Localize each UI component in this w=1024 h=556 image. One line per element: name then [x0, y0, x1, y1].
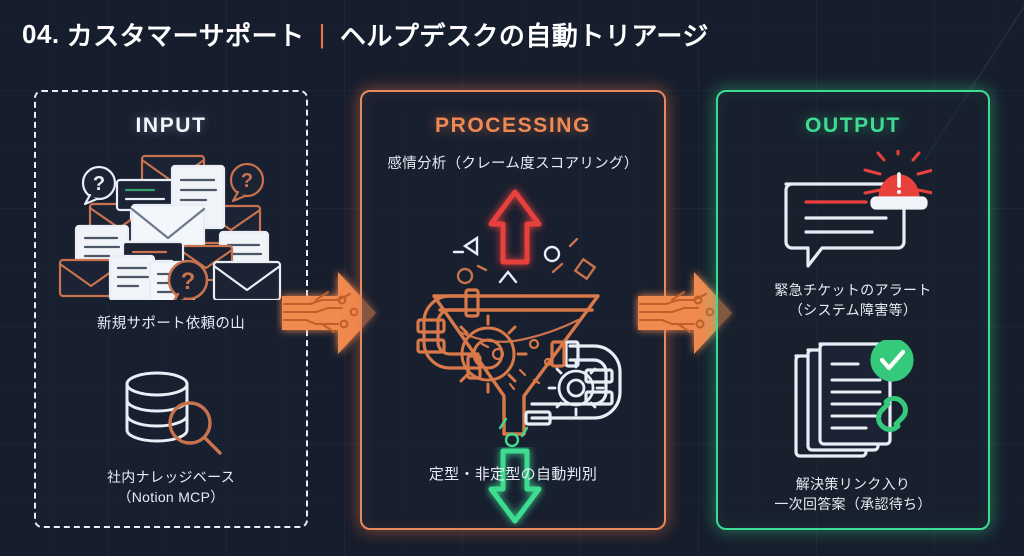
- title-number: 04.: [22, 19, 60, 50]
- svg-text:?: ?: [181, 268, 196, 295]
- input-item-0-caption-line-0: 新規サポート依頼の山: [36, 314, 306, 335]
- input-item-1-caption-line-0: 社内ナレッジベース: [36, 467, 306, 487]
- mail-pile-icon: ? ? ?: [54, 150, 292, 300]
- panel-input-heading: INPUT: [36, 114, 306, 138]
- gear-left: [450, 316, 526, 392]
- panel-output: OUTPUT: [716, 90, 990, 530]
- database-search-icon: [116, 367, 230, 459]
- output-item-0-caption-line-0: 緊急チケットのアラート: [718, 280, 988, 300]
- page-title: 04. カスタマーサポート | ヘルプデスクの自動トリアージ: [22, 16, 709, 53]
- input-item-0-caption: 新規サポート依頼の山: [36, 314, 306, 335]
- processing-bottom-caption: 定型・非定型の自動判別: [362, 464, 664, 486]
- panel-input: INPUT: [34, 90, 308, 528]
- title-subtitle: ヘルプデスクの自動トリアージ: [340, 16, 709, 53]
- alert-siren-chat-icon: [780, 150, 932, 272]
- panel-processing: PROCESSING 感情分析（クレーム度スコアリング）: [360, 90, 666, 530]
- output-item-0-caption-line-1: （システム障害等）: [718, 300, 988, 320]
- processing-top-caption-text: 感情分析（クレーム度スコアリング）: [362, 154, 664, 175]
- title-main: カスタマーサポート: [67, 16, 305, 53]
- output-item-0-caption: 緊急チケットのアラート （システム障害等）: [718, 280, 988, 321]
- funnel-pipes-gears-icon: [382, 184, 648, 450]
- down-arrow-green: [484, 447, 546, 527]
- gear-right: [549, 361, 603, 415]
- input-item-1-caption-line-1: （Notion MCP）: [36, 487, 306, 507]
- output-item-1-caption: 解決策リンク入り 一次回答案（承認待ち）: [718, 474, 988, 515]
- input-item-1-caption: 社内ナレッジベース （Notion MCP）: [36, 467, 306, 508]
- svg-text:?: ?: [241, 170, 253, 192]
- document-check-link-icon: [786, 340, 926, 466]
- output-item-1-caption-line-1: 一次回答案（承認待ち）: [718, 494, 988, 514]
- up-arrow-red: [491, 192, 539, 262]
- output-item-1-caption-line-0: 解決策リンク入り: [718, 474, 988, 494]
- svg-text:?: ?: [93, 173, 105, 195]
- slide-canvas: 04. カスタマーサポート | ヘルプデスクの自動トリアージ INPUT: [0, 0, 1024, 556]
- title-separator: |: [319, 19, 326, 50]
- processing-bottom-caption-text: 定型・非定型の自動判別: [362, 464, 664, 486]
- panel-output-heading: OUTPUT: [718, 114, 988, 138]
- panel-processing-heading: PROCESSING: [362, 114, 664, 138]
- processing-top-caption: 感情分析（クレーム度スコアリング）: [362, 154, 664, 175]
